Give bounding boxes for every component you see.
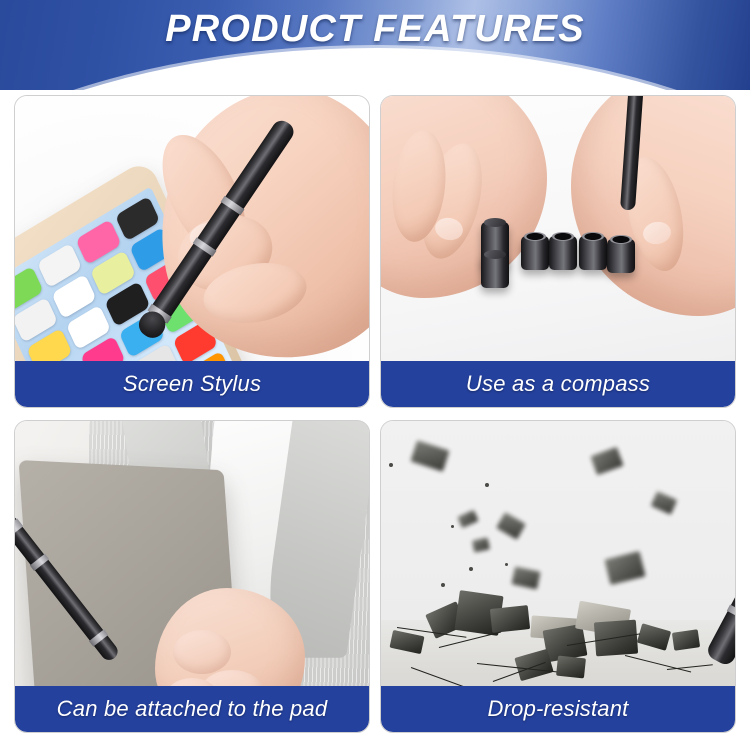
ground-shard bbox=[556, 656, 586, 679]
feature-card-screen-stylus[interactable]: Screen Stylus bbox=[14, 95, 370, 408]
feature-card-use-as-compass[interactable]: Use as a compass bbox=[380, 95, 736, 408]
finger-knuckle bbox=[173, 630, 231, 674]
caption-screen-stylus: Screen Stylus bbox=[15, 361, 369, 407]
caption-drop-resistant: Drop-resistant bbox=[381, 686, 735, 732]
feature-card-attached-to-pad[interactable]: Can be attached to the pad bbox=[14, 420, 370, 733]
feature-card-grid: Screen Stylus bbox=[14, 95, 736, 720]
magnet-segment bbox=[579, 236, 607, 270]
magnet-segment bbox=[549, 236, 577, 270]
caption-attached-to-pad: Can be attached to the pad bbox=[15, 686, 369, 732]
feature-card-drop-resistant[interactable]: Drop-resistant bbox=[380, 420, 736, 733]
header-banner: PRODUCT FEATURES bbox=[0, 0, 750, 90]
magnet-segment bbox=[481, 254, 509, 288]
debris-speck bbox=[389, 463, 393, 467]
caption-use-as-compass: Use as a compass bbox=[381, 361, 735, 407]
magnet-segment bbox=[521, 236, 549, 270]
debris-speck bbox=[469, 567, 473, 571]
ground-shard bbox=[490, 605, 530, 633]
debris-speck bbox=[441, 583, 445, 587]
ground-shard bbox=[672, 629, 700, 650]
page-title: PRODUCT FEATURES bbox=[0, 8, 750, 51]
debris-speck bbox=[505, 563, 508, 566]
magnet-segment bbox=[607, 239, 635, 273]
product-features-infographic: PRODUCT FEATURES bbox=[0, 0, 750, 734]
debris-speck bbox=[485, 483, 489, 487]
debris-speck bbox=[451, 525, 454, 528]
